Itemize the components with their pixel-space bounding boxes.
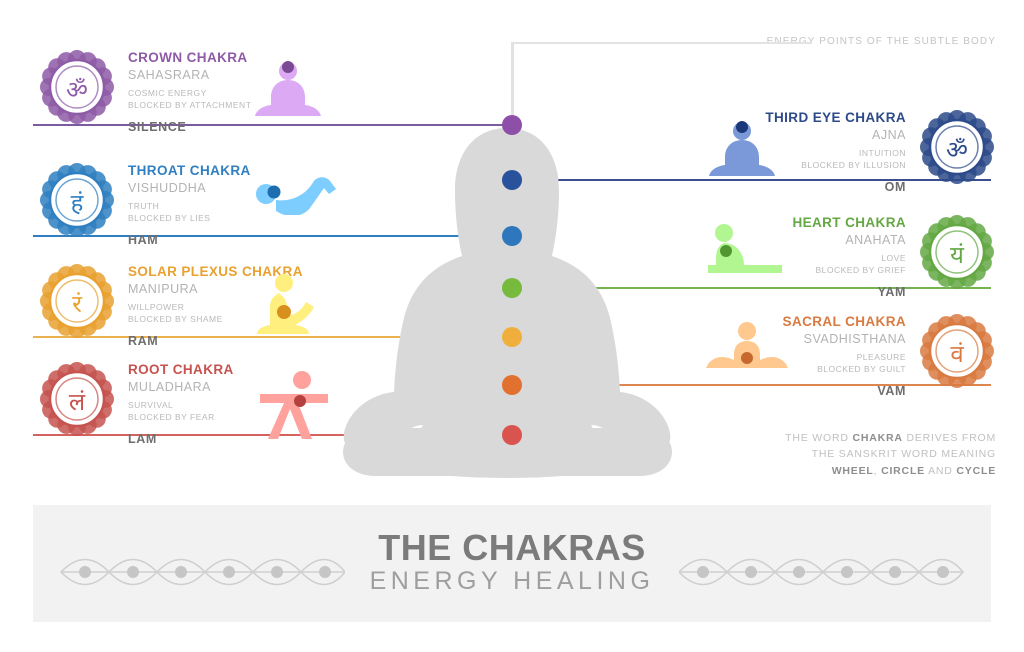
chakra-blocked-by: BLOCKED BY FEAR [128, 411, 234, 423]
bottom-banner: THE CHAKRAS ENERGY HEALING [33, 505, 991, 622]
yoga-pose-icon [706, 116, 778, 193]
chakra-blocked-by: BLOCKED BY ILLUSION [765, 159, 906, 171]
chakra-panel[interactable]: हं THROAT CHAKRA VISHUDDHA TRUTH BLOCKED… [38, 161, 251, 247]
yoga-pose-icon [252, 169, 338, 220]
chakra-mantra: SILENCE [128, 120, 251, 134]
yoga-pose-icon [252, 270, 328, 347]
chakra-node-dot[interactable] [502, 425, 522, 445]
chakra-name: CROWN CHAKRA [128, 50, 251, 67]
chakra-mandala-icon: रं [38, 262, 116, 340]
chakra-mandala-icon: हं [38, 161, 116, 239]
chakra-name: ROOT CHAKRA [128, 362, 234, 379]
chakra-name: SACRAL CHAKRA [783, 314, 906, 331]
chakra-mandala-icon: लं [38, 360, 116, 438]
chakra-sanskrit-name: SAHASRARA [128, 67, 251, 83]
footer-line1: THE WORD CHAKRA DERIVES FROM [785, 432, 996, 444]
svg-text:हं: हं [71, 189, 85, 217]
svg-text:रं: रं [72, 290, 83, 318]
chakra-quality: LOVE [792, 252, 906, 264]
ornament-left-icon [57, 549, 345, 600]
chakra-panel[interactable]: ॐ CROWN CHAKRA SAHASRARA COSMIC ENERGY B… [38, 48, 251, 134]
chakra-sanskrit-name: SVADHISTHANA [783, 331, 906, 347]
chakra-sanskrit-name: ANAHATA [792, 232, 906, 248]
chakra-node-dot[interactable] [502, 278, 522, 298]
yoga-pose-icon [706, 320, 788, 381]
spine-top-connector [511, 42, 811, 44]
chakra-name: HEART CHAKRA [792, 215, 906, 232]
chakra-sanskrit-name: MULADHARA [128, 379, 234, 395]
chakra-mantra: YAM [792, 285, 906, 299]
chakra-quality: INTUITION [765, 147, 906, 159]
chakra-node-dot[interactable] [502, 375, 522, 395]
svg-text:लं: लं [69, 388, 86, 416]
chakra-panel[interactable]: वं SACRAL CHAKRA SVADHISTHANA PLEASURE B… [783, 312, 996, 398]
chakra-quality: TRUTH [128, 200, 251, 212]
chakra-mantra: VAM [783, 384, 906, 398]
chakra-mantra: HAM [128, 233, 251, 247]
ornament-right-icon [679, 549, 967, 600]
chakra-node-dot[interactable] [502, 226, 522, 246]
chakra-node-dot[interactable] [502, 327, 522, 347]
chakra-mandala-icon: ॐ [38, 48, 116, 126]
yoga-pose-icon [252, 368, 332, 449]
svg-text:यं: यं [950, 241, 965, 269]
chakra-node-dot[interactable] [502, 115, 522, 135]
chakra-blocked-by: BLOCKED BY ATTACHMENT [128, 99, 251, 111]
chakra-mandala-icon: वं [918, 312, 996, 390]
chakra-name: THROAT CHAKRA [128, 163, 251, 180]
chakra-panel[interactable]: लं ROOT CHAKRA MULADHARA SURVIVAL BLOCKE… [38, 360, 234, 446]
chakra-blocked-by: BLOCKED BY GUILT [783, 363, 906, 375]
chakra-mantra: LAM [128, 432, 234, 446]
chakra-mandala-icon: यं [918, 213, 996, 291]
chakra-quality: COSMIC ENERGY [128, 87, 251, 99]
chakra-blocked-by: BLOCKED BY GRIEF [792, 264, 906, 276]
chakra-mantra: OM [765, 180, 906, 194]
chakra-node-dot[interactable] [502, 170, 522, 190]
chakra-name: THIRD EYE CHAKRA [765, 110, 906, 127]
chakra-sanskrit-name: VISHUDDHA [128, 180, 251, 196]
svg-text:ॐ: ॐ [66, 76, 88, 104]
footer-definition: THE WORD CHAKRA DERIVES FROM THE SANSKRI… [666, 430, 996, 479]
yoga-pose-icon [252, 56, 324, 133]
chakra-mandala-icon: ॐ [918, 108, 996, 186]
chakra-quality: PLEASURE [783, 351, 906, 363]
chakra-panel[interactable]: यं HEART CHAKRA ANAHATA LOVE BLOCKED BY … [792, 213, 996, 299]
yoga-pose-icon [706, 221, 786, 280]
svg-text:ॐ: ॐ [946, 136, 968, 164]
chakra-sanskrit-name: AJNA [765, 127, 906, 143]
chakra-quality: SURVIVAL [128, 399, 234, 411]
footer-line3: WHEEL, CIRCLE AND CYCLE [832, 465, 996, 477]
infographic-canvas: ENERGY POINTS OF THE SUBTLE BODY THE WOR… [0, 0, 1024, 652]
svg-text:वं: वं [950, 340, 964, 368]
footer-line2: THE SANSKRIT WORD MEANING [812, 448, 996, 460]
chakra-panel[interactable]: ॐ THIRD EYE CHAKRA AJNA INTUITION BLOCKE… [765, 108, 996, 194]
chakra-blocked-by: BLOCKED BY LIES [128, 212, 251, 224]
